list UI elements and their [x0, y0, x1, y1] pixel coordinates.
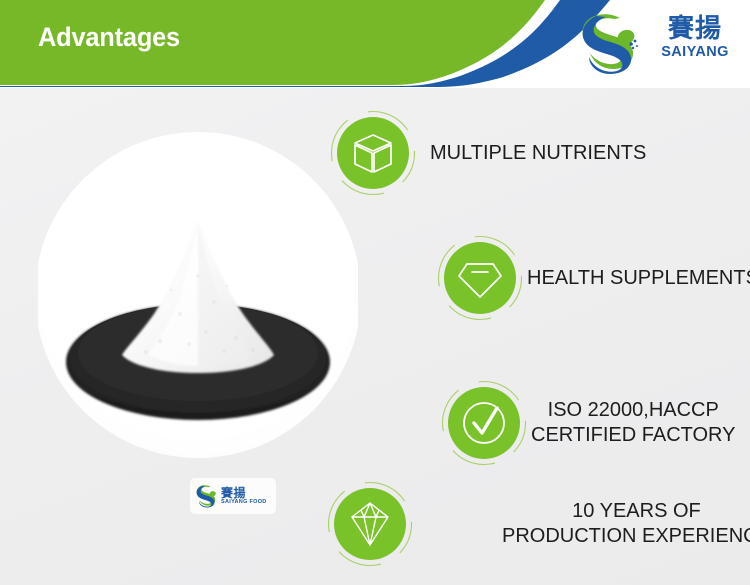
feature-label: ISO 22000,HACCP CERTIFIED FACTORY [531, 380, 735, 466]
watermark-english: SAIYANG FOOD [221, 500, 267, 506]
page-title: Advantages [38, 22, 180, 53]
feature-label: 10 YEARS OF PRODUCTION EXPERIENCE [502, 481, 750, 567]
feature-label-line2: CERTIFIED FACTORY [531, 423, 735, 448]
watermark-chinese: 賽揚 [221, 487, 267, 499]
feature-badge [437, 235, 523, 321]
feature-label-line2: PRODUCTION EXPERIENCE [502, 524, 750, 549]
diamond-icon [327, 481, 413, 567]
feature-label-line1: MULTIPLE NUTRIENTS [430, 141, 646, 166]
product-watermark: 賽揚 SAIYANG FOOD [190, 478, 276, 514]
logo-wordmark: 賽揚 SAIYANG [645, 14, 745, 61]
feature-badge [330, 110, 416, 196]
feature-label-line1: 10 YEARS OF [502, 499, 750, 524]
gem-icon [437, 235, 523, 321]
advantages-banner: Advantages 賽揚 SAIYANG [0, 0, 750, 585]
feature-label: HEALTH SUPPLEMENTS [527, 235, 750, 321]
feature-badge [327, 481, 413, 567]
watermark-text: 賽揚 SAIYANG FOOD [221, 487, 267, 506]
logo-chinese-text: 賽揚 [645, 14, 745, 44]
logo-english-text: SAIYANG [645, 44, 745, 61]
product-photo-graphic [38, 100, 358, 495]
company-logo: 賽揚 SAIYANG [573, 8, 743, 78]
watermark-s-icon [193, 483, 219, 509]
feature-label: MULTIPLE NUTRIENTS [430, 110, 646, 196]
feature-label-line1: ISO 22000,HACCP [531, 398, 735, 423]
saiyang-s-icon [573, 10, 643, 76]
product-image: 賽揚 SAIYANG FOOD [38, 100, 358, 495]
header-bar: Advantages 賽揚 SAIYANG [0, 0, 750, 88]
check-circle-icon [441, 380, 527, 466]
feature-label-line1: HEALTH SUPPLEMENTS [527, 266, 750, 291]
feature-badge [441, 380, 527, 466]
cube-icon [330, 110, 416, 196]
